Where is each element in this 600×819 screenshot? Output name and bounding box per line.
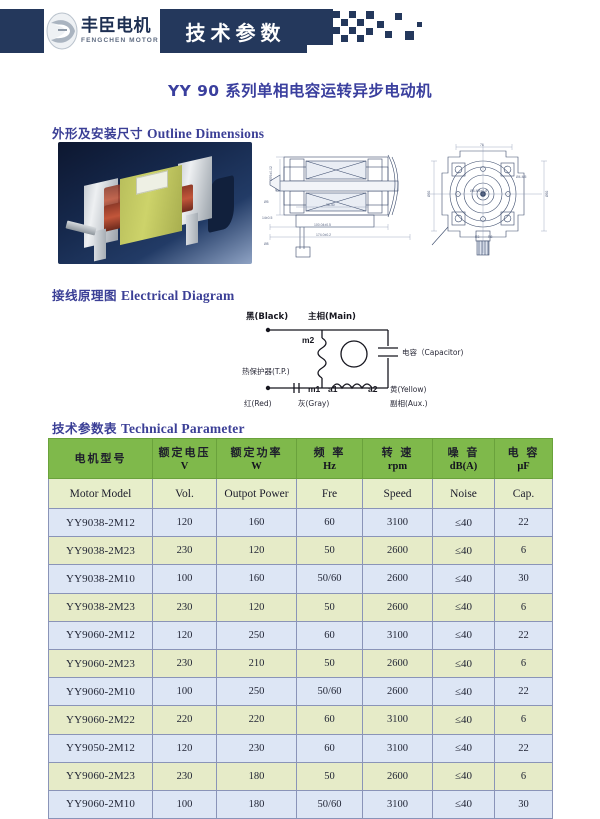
- label-capacitor: 电容（Capacitor): [402, 347, 464, 357]
- label-m2: m2: [302, 335, 315, 345]
- cell-frequency: 60: [297, 621, 363, 649]
- svg-text:14±0.5: 14±0.5: [262, 216, 272, 220]
- section-heading-electrical: 接线原理图Electrical Diagram: [52, 285, 234, 305]
- cell-model: YY9060-2M10: [49, 790, 153, 818]
- electrical-wiring-diagram: 黑(Black) 主相(Main) m2 m1 a1 a2 电容（Capacit…: [240, 300, 476, 412]
- table-row: YY9038-2M23230120502600≤406: [49, 593, 553, 621]
- cell-power: 120: [217, 537, 297, 565]
- header-cn-name: 转 速: [365, 445, 430, 460]
- svg-text:Ø4-M5: Ø4-M5: [516, 175, 526, 179]
- svg-text:Ø5: Ø5: [264, 200, 269, 204]
- header-cn-unit: W: [219, 460, 294, 473]
- cell-model: YY9038-2M12: [49, 509, 153, 537]
- section-outline-en: Outline Dimensions: [147, 126, 264, 141]
- cell-noise: ≤40: [433, 649, 495, 677]
- cell-capacitance: 22: [495, 734, 553, 762]
- cell-speed: 2600: [363, 537, 433, 565]
- cell-power: 180: [217, 790, 297, 818]
- table-header-en-noise: Noise: [433, 479, 495, 509]
- cell-noise: ≤40: [433, 621, 495, 649]
- svg-text:38-40: 38-40: [326, 203, 335, 207]
- section-electrical-cn: 接线原理图: [52, 288, 117, 303]
- cell-speed: 2600: [363, 649, 433, 677]
- cell-power: 250: [217, 678, 297, 706]
- table-header-cn-model: 电机型号: [49, 439, 153, 479]
- header-cn-unit: dB(A): [435, 460, 492, 473]
- svg-text:Ø8-M5×0.8: Ø8-M5×0.8: [470, 189, 487, 193]
- outline-drawing-front-view: 76 Ø92 Ø92 Ø4-M5 Ø8-M5×0.8 R3 R8: [426, 141, 560, 261]
- cell-power: 160: [217, 565, 297, 593]
- motor-mount-foot-1: [94, 229, 106, 262]
- cell-speed: 2600: [363, 565, 433, 593]
- cell-capacitance: 30: [495, 565, 553, 593]
- page-header: 丰臣电机 FENGCHEN MOTOR 技术参数: [0, 9, 600, 53]
- svg-text:76: 76: [480, 143, 484, 147]
- cell-frequency: 60: [297, 509, 363, 537]
- cell-power: 250: [217, 621, 297, 649]
- cell-frequency: 50: [297, 762, 363, 790]
- cell-speed: 2600: [363, 593, 433, 621]
- table-header-cn-speed: 转 速rpm: [363, 439, 433, 479]
- cell-noise: ≤40: [433, 565, 495, 593]
- cell-model: YY9038-2M23: [49, 537, 153, 565]
- svg-text:Ø8: Ø8: [264, 242, 269, 246]
- header-cn-unit: rpm: [365, 460, 430, 473]
- cell-power: 210: [217, 649, 297, 677]
- cell-power: 230: [217, 734, 297, 762]
- logo-chinese-name: 丰臣电机: [81, 17, 159, 36]
- table-header-cn-voltage: 额定电压V: [153, 439, 217, 479]
- document-title: YY 90 系列单相电容运转异步电动机: [0, 79, 600, 101]
- cell-model: YY9060-2M23: [49, 649, 153, 677]
- label-yellow: 黄(Yellow): [390, 384, 427, 394]
- header-banner-title: 技术参数: [160, 9, 307, 53]
- header-cn-name: 额定功率: [219, 445, 294, 460]
- table-header-row-cn: 电机型号额定电压V额定功率W频 率Hz转 速rpm噪 音dB(A)电 容μF: [49, 439, 553, 479]
- header-cn-name: 频 率: [299, 445, 360, 460]
- section-heading-parameter: 技术参数表Technical Parameter: [52, 418, 245, 438]
- cell-speed: 2600: [363, 762, 433, 790]
- table-head: 电机型号额定电压V额定功率W频 率Hz转 速rpm噪 音dB(A)电 容μF M…: [49, 439, 553, 509]
- header-cn-name: 电 容: [497, 445, 550, 460]
- cell-noise: ≤40: [433, 790, 495, 818]
- section-parameter-cn: 技术参数表: [52, 421, 117, 436]
- label-black: 黑(Black): [246, 311, 288, 322]
- section-electrical-en: Electrical Diagram: [121, 288, 234, 303]
- table-row: YY9060-2M23230180502600≤406: [49, 762, 553, 790]
- cell-voltage: 230: [153, 593, 217, 621]
- motor-product-photo: [58, 142, 252, 264]
- label-a1: a1: [328, 384, 338, 394]
- header-cn-unit: μF: [497, 460, 550, 473]
- table-row: YY9038-2M1010016050/602600≤4030: [49, 565, 553, 593]
- table-header-cn-power: 额定功率W: [217, 439, 297, 479]
- label-main: 主相(Main): [308, 311, 356, 322]
- cell-model: YY9060-2M10: [49, 678, 153, 706]
- table-row: YY9060-2M12120250603100≤4022: [49, 621, 553, 649]
- cell-frequency: 50/60: [297, 678, 363, 706]
- table-header-en-power: Outpot Power: [217, 479, 297, 509]
- cell-voltage: 100: [153, 678, 217, 706]
- checker-pattern-decoration: [305, 9, 425, 53]
- fengchen-leaf-icon: [45, 11, 79, 51]
- cell-power: 220: [217, 706, 297, 734]
- cell-capacitance: 22: [495, 621, 553, 649]
- cell-power: 120: [217, 593, 297, 621]
- cell-capacitance: 6: [495, 537, 553, 565]
- cell-voltage: 120: [153, 509, 217, 537]
- table-header-cn-noise: 噪 音dB(A): [433, 439, 495, 479]
- cell-noise: ≤40: [433, 762, 495, 790]
- cell-power: 180: [217, 762, 297, 790]
- cell-frequency: 60: [297, 734, 363, 762]
- cell-noise: ≤40: [433, 509, 495, 537]
- cell-voltage: 230: [153, 649, 217, 677]
- table-row: YY9038-2M23230120502600≤406: [49, 537, 553, 565]
- table-header-en-voltage: Vol.: [153, 479, 217, 509]
- cell-speed: 3100: [363, 621, 433, 649]
- table-header-en-frequency: Fre: [297, 479, 363, 509]
- cell-speed: 3100: [363, 734, 433, 762]
- section-outline-cn: 外形及安装尺寸: [52, 126, 143, 141]
- cell-voltage: 100: [153, 790, 217, 818]
- header-cn-name: 噪 音: [435, 445, 492, 460]
- cell-noise: ≤40: [433, 593, 495, 621]
- table-header-cn-frequency: 频 率Hz: [297, 439, 363, 479]
- logo-english-name: FENGCHEN MOTOR: [81, 36, 159, 45]
- cell-voltage: 220: [153, 706, 217, 734]
- cell-capacitance: 6: [495, 762, 553, 790]
- cell-voltage: 120: [153, 734, 217, 762]
- cell-frequency: 50: [297, 593, 363, 621]
- motor-coil-a: [104, 202, 121, 232]
- cell-voltage: 120: [153, 621, 217, 649]
- svg-text:R3: R3: [475, 235, 479, 239]
- cell-noise: ≤40: [433, 706, 495, 734]
- cell-capacitance: 30: [495, 790, 553, 818]
- cell-noise: ≤40: [433, 734, 495, 762]
- cell-frequency: 60: [297, 706, 363, 734]
- table-row: YY9060-2M23230210502600≤406: [49, 649, 553, 677]
- cell-frequency: 50: [297, 537, 363, 565]
- cell-capacitance: 6: [495, 649, 553, 677]
- table-header-cn-capacitance: 电 容μF: [495, 439, 553, 479]
- section-heading-outline: 外形及安装尺寸Outline Dimensions: [52, 123, 264, 143]
- label-a2: a2: [368, 384, 378, 394]
- cell-noise: ≤40: [433, 537, 495, 565]
- cell-capacitance: 6: [495, 706, 553, 734]
- table-row: YY9060-2M22220220603100≤406: [49, 706, 553, 734]
- svg-text:100.04±0.5: 100.04±0.5: [314, 223, 331, 227]
- table-header-row-en: Motor ModelVol.Outpot PowerFreSpeedNoise…: [49, 479, 553, 509]
- cell-speed: 2600: [363, 678, 433, 706]
- header-banner-title-text: 技术参数: [182, 17, 286, 46]
- outline-drawing-side-view: 38-40 100.04±0.5 174.0±0.2 Ø76±0.02 Ø5 1…: [256, 141, 422, 261]
- cell-voltage: 230: [153, 762, 217, 790]
- table-row: YY9038-2M12120160603100≤4022: [49, 509, 553, 537]
- svg-text:Ø92: Ø92: [427, 190, 431, 197]
- label-thermal: 热保护器(T.P.): [242, 366, 290, 376]
- cell-model: YY9038-2M10: [49, 565, 153, 593]
- cell-frequency: 50: [297, 649, 363, 677]
- cell-model: YY9060-2M12: [49, 621, 153, 649]
- header-cn-name: 额定电压: [155, 445, 214, 460]
- cell-model: YY9060-2M22: [49, 706, 153, 734]
- cell-model: YY9038-2M23: [49, 593, 153, 621]
- header-cn-name: 电机型号: [51, 451, 150, 466]
- table-header-en-speed: Speed: [363, 479, 433, 509]
- technical-parameter-table-wrapper: 电机型号额定电压V额定功率W频 率Hz转 速rpm噪 音dB(A)电 容μF M…: [48, 438, 552, 819]
- cell-noise: ≤40: [433, 678, 495, 706]
- cell-model: YY9050-2M12: [49, 734, 153, 762]
- table-body: YY9038-2M12120160603100≤4022YY9038-2M232…: [49, 509, 553, 819]
- header-cn-unit: Hz: [299, 460, 360, 473]
- table-row: YY9050-2M12120230603100≤4022: [49, 734, 553, 762]
- cell-model: YY9060-2M23: [49, 762, 153, 790]
- table-row: YY9060-2M1010025050/602600≤4022: [49, 678, 553, 706]
- cell-frequency: 50/60: [297, 565, 363, 593]
- cell-speed: 3100: [363, 790, 433, 818]
- svg-text:Ø92: Ø92: [545, 190, 549, 197]
- cell-speed: 3100: [363, 509, 433, 537]
- motor-mount-foot-2: [186, 213, 198, 246]
- label-aux: 副相(Aux.): [390, 398, 428, 408]
- svg-text:174.0±0.2: 174.0±0.2: [316, 233, 331, 237]
- cell-frequency: 50/60: [297, 790, 363, 818]
- cell-voltage: 100: [153, 565, 217, 593]
- cell-speed: 3100: [363, 706, 433, 734]
- section-parameter-en: Technical Parameter: [121, 421, 245, 436]
- svg-text:Ø76±0.02: Ø76±0.02: [269, 166, 273, 181]
- header-cn-unit: V: [155, 460, 214, 473]
- table-header-en-capacitance: Cap.: [495, 479, 553, 509]
- cell-capacitance: 22: [495, 509, 553, 537]
- technical-parameter-table: 电机型号额定电压V额定功率W频 率Hz转 速rpm噪 音dB(A)电 容μF M…: [48, 438, 553, 819]
- cell-capacitance: 6: [495, 593, 553, 621]
- label-red: 红(Red): [244, 398, 272, 408]
- cell-capacitance: 22: [495, 678, 553, 706]
- logo-text: 丰臣电机 FENGCHEN MOTOR: [81, 17, 159, 45]
- label-gray: 灰(Gray): [298, 398, 329, 408]
- label-m1: m1: [308, 384, 321, 394]
- table-row: YY9060-2M1010018050/603100≤4030: [49, 790, 553, 818]
- cell-power: 160: [217, 509, 297, 537]
- svg-text:R8: R8: [488, 235, 492, 239]
- company-logo: 丰臣电机 FENGCHEN MOTOR: [44, 9, 160, 53]
- cell-voltage: 230: [153, 537, 217, 565]
- table-header-en-model: Motor Model: [49, 479, 153, 509]
